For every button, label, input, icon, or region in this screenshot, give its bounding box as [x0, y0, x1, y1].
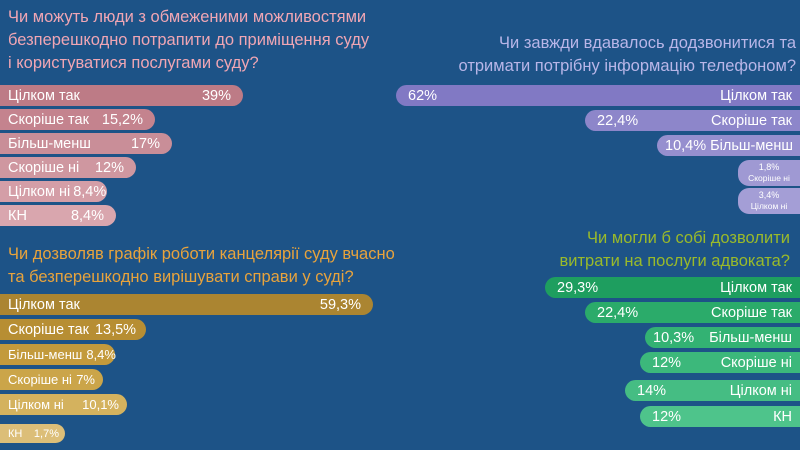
- bar-value: 8,4%: [71, 208, 104, 224]
- bar-label: Цілком ні: [730, 383, 792, 399]
- bar-label: Цілком ні: [8, 184, 70, 200]
- bar-row: КН 8,4%: [0, 205, 116, 226]
- bar-value: 10,4%: [665, 138, 706, 154]
- bar-row: Скоріше так 13,5%: [0, 319, 146, 340]
- bar-label: Скоріше так: [711, 113, 792, 129]
- bar-label: Більш-менш: [8, 136, 91, 152]
- bar-value: 59,3%: [320, 297, 361, 313]
- chart-title-schedule: Чи дозволяв графік роботи канцелярії суд…: [8, 243, 438, 289]
- bar-value: 12%: [652, 409, 681, 425]
- bar-label: Скоріше так: [8, 322, 89, 338]
- bar-label: Цілком так: [720, 88, 792, 104]
- bar-value: 12%: [95, 160, 124, 176]
- bar-value: 7%: [76, 372, 95, 387]
- bar-label: КН: [773, 409, 792, 425]
- bar-row: 29,3% Цілком так: [545, 277, 800, 298]
- bar-row: 62% Цілком так: [396, 85, 800, 106]
- bar-label: Цілком ні: [8, 397, 64, 412]
- bar-row: 14% Цілком ні: [625, 380, 800, 401]
- bar-row: 10,4% Більш-менш: [657, 135, 800, 156]
- bar-label: Скоріше ні: [8, 160, 79, 176]
- bar-value: 29,3%: [557, 280, 598, 296]
- bar-value: 22,4%: [597, 113, 638, 129]
- bar-label: Більш-менш: [709, 330, 792, 346]
- chart-title-lawyer: Чи могли б собі дозволити витрати на пос…: [470, 227, 790, 273]
- bar-row: 3,4% Цілком ні: [738, 188, 800, 214]
- bar-value: 3,4%: [759, 190, 780, 201]
- bar-label: Цілком так: [720, 280, 792, 296]
- bar-value: 10,3%: [653, 330, 694, 346]
- bar-row: Скоріше ні 7%: [0, 369, 103, 390]
- bar-label: Скоріше так: [8, 112, 89, 128]
- chart-title-accessibility: Чи можуть люди з обмеженими можливостями…: [8, 6, 428, 75]
- bar-value: 12%: [652, 355, 681, 371]
- bar-value: 8,4%: [86, 347, 116, 362]
- bar-value: 22,4%: [597, 305, 638, 321]
- bar-value: 14%: [637, 383, 666, 399]
- bar-value: 15,2%: [102, 112, 143, 128]
- bar-value: 62%: [408, 88, 437, 104]
- bar-row: 12% Скоріше ні: [640, 352, 800, 373]
- bar-row: Більш-менш 8,4%: [0, 344, 115, 365]
- bar-row: 22,4% Скоріше так: [585, 302, 800, 323]
- bar-row: 12% КН: [640, 406, 800, 427]
- bar-label: Цілком так: [8, 297, 80, 313]
- bar-label: Скоріше ні: [721, 355, 792, 371]
- bar-label: Скоріше так: [711, 305, 792, 321]
- bar-value: 1,8%: [759, 162, 780, 173]
- bar-row: Скоріше так 15,2%: [0, 109, 155, 130]
- bar-label: Більш-менш: [8, 347, 82, 362]
- bar-label: Скоріше ні: [748, 173, 790, 184]
- bar-row: Скоріше ні 12%: [0, 157, 136, 178]
- bar-label: КН: [8, 428, 22, 440]
- bar-value: 13,5%: [95, 322, 136, 338]
- bar-value: 17%: [131, 136, 160, 152]
- bar-label: КН: [8, 208, 27, 224]
- bar-value: 1,7%: [34, 428, 59, 440]
- bar-row: Цілком так 59,3%: [0, 294, 373, 315]
- bar-row: 22,4% Скоріше так: [585, 110, 800, 131]
- bar-value: 10,1%: [82, 397, 119, 412]
- bar-value: 39%: [202, 88, 231, 104]
- bar-row: Цілком ні 8,4%: [0, 181, 107, 202]
- bar-row: 1,8% Скоріше ні: [738, 160, 800, 186]
- bar-row: Цілком ні 10,1%: [0, 394, 127, 415]
- bar-label: Скоріше ні: [8, 372, 72, 387]
- chart-title-phone: Чи завжди вдавалось додзвонитися та отри…: [416, 32, 796, 78]
- bar-value: 8,4%: [73, 184, 106, 200]
- bar-row: Більш-менш 17%: [0, 133, 172, 154]
- bar-row: 10,3% Більш-менш: [645, 327, 800, 348]
- bar-label: Цілком так: [8, 88, 80, 104]
- bar-label: Більш-менш: [710, 138, 793, 154]
- bar-row: КН 1,7%: [0, 424, 65, 443]
- bar-label: Цілком ні: [751, 201, 787, 212]
- infographic-page: Чи можуть люди з обмеженими можливостями…: [0, 0, 800, 450]
- bar-row: Цілком так 39%: [0, 85, 243, 106]
